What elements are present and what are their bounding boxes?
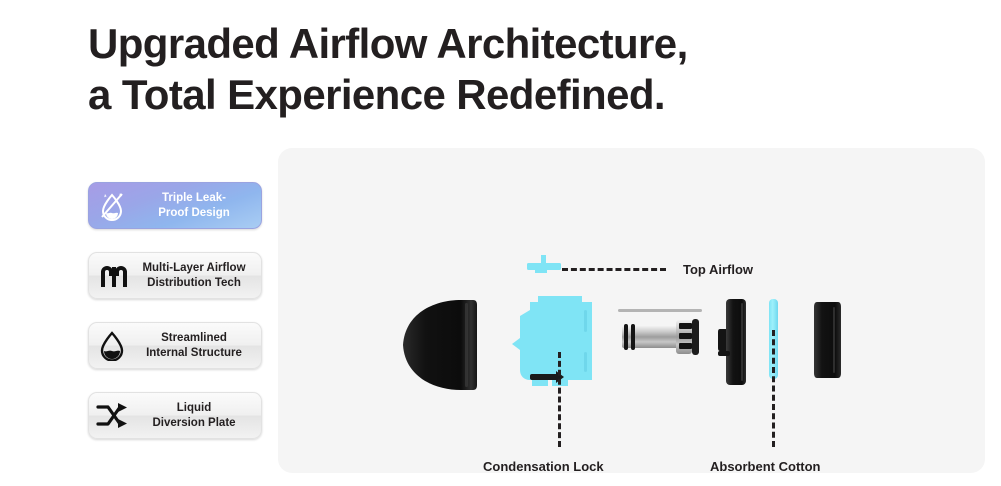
- feature-label-streamlined-internal-structure: Streamlined Internal Structure: [135, 331, 261, 360]
- callout-label-absorbent-cotton: Absorbent Cotton: [710, 459, 820, 474]
- shuffle-arrows-icon: [89, 392, 135, 439]
- feature-label-liquid-diversion-plate: Liquid Diversion Plate: [135, 401, 261, 430]
- leader-line-absorbent-cotton: [772, 330, 775, 447]
- feature-list: Triple Leak- Proof Design Multi-Layer Ai…: [88, 182, 262, 462]
- droplet-icon: [89, 322, 135, 369]
- outer-shell-part: [399, 298, 477, 390]
- coil-assembly-part: [618, 306, 702, 360]
- feature-label-multi-layer-airflow: Multi-Layer Airflow Distribution Tech: [135, 261, 261, 290]
- feature-item-multi-layer-airflow[interactable]: Multi-Layer Airflow Distribution Tech: [88, 252, 262, 299]
- top-airflow-piece: [527, 255, 561, 275]
- back-cover-part: [814, 299, 840, 379]
- page-title-line-1: Upgraded Airflow Architecture,: [88, 18, 868, 69]
- feature-label-triple-leak-proof: Triple Leak- Proof Design: [135, 191, 261, 220]
- callout-label-condensation-lock: Condensation Lock: [483, 459, 604, 474]
- leader-line-top-airflow: [562, 268, 666, 271]
- middle-plate-part: [718, 299, 746, 383]
- page-title-line-2: a Total Experience Redefined.: [88, 69, 868, 120]
- feature-item-liquid-diversion-plate[interactable]: Liquid Diversion Plate: [88, 392, 262, 439]
- feature-item-triple-leak-proof[interactable]: Triple Leak- Proof Design: [88, 182, 262, 229]
- page-title: Upgraded Airflow Architecture, a Total E…: [88, 18, 868, 120]
- airflow-lines-icon: [89, 252, 135, 299]
- callout-label-top-airflow: Top Airflow: [683, 262, 753, 277]
- diagram-panel: Top Airflow: [278, 148, 985, 473]
- no-leak-droplet-icon: [89, 182, 135, 229]
- feature-item-streamlined-internal-structure[interactable]: Streamlined Internal Structure: [88, 322, 262, 369]
- leader-line-condensation-lock: [558, 352, 561, 447]
